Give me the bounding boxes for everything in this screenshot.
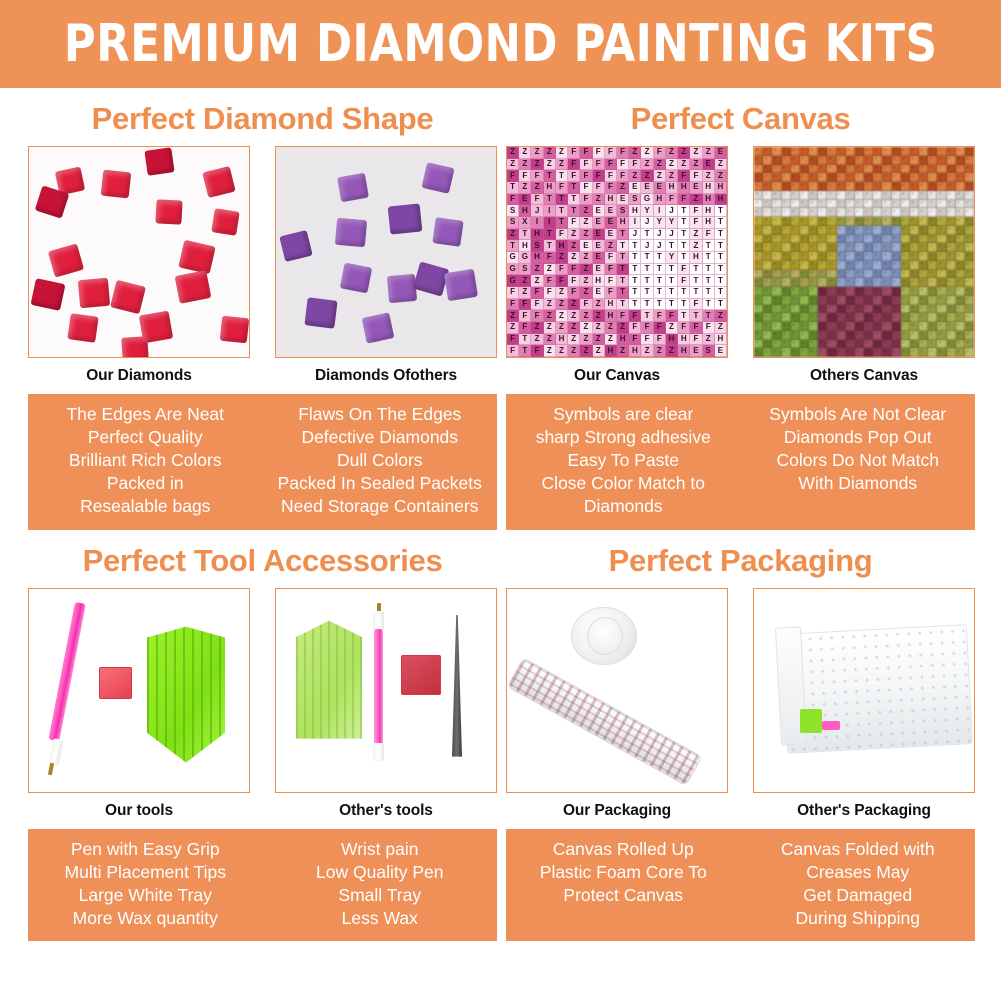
canvas-symbol-cell [855, 305, 864, 314]
canvas-symbol-cell: F [654, 147, 666, 159]
canvas-symbol-cell: Z [605, 240, 617, 252]
canvas-symbol-cell [846, 165, 855, 174]
canvas-symbol-cell [947, 191, 956, 200]
canvas-symbol-cell [864, 243, 873, 252]
canvas-symbol-cell: F [703, 229, 715, 241]
canvas-symbol-cell: T [617, 229, 629, 241]
canvas-symbol-cell [827, 296, 836, 305]
canvas-symbol-cell [837, 296, 846, 305]
canvas-symbol-cell: Z [531, 334, 543, 346]
canvas-symbol-cell: Z [641, 345, 653, 357]
canvas-symbol-cell [882, 156, 891, 165]
canvas-symbol-cell: G [519, 252, 531, 264]
canvas-symbol-cell [782, 313, 791, 322]
canvas-symbol-cell: Z [544, 147, 556, 159]
wax-square-small [401, 655, 441, 695]
canvas-symbol-cell [937, 147, 946, 156]
canvas-symbol-cell [855, 243, 864, 252]
canvas-symbol-cell: Y [654, 217, 666, 229]
canvas-symbol-cell: F [593, 170, 605, 182]
canvas-symbol-cell: T [568, 182, 580, 194]
canvas-symbol-cell: Z [580, 345, 592, 357]
canvas-symbol-cell [901, 296, 910, 305]
canvas-symbol-cell: Z [641, 147, 653, 159]
text-line: Large White Tray [32, 884, 259, 907]
canvas-symbol-cell [763, 200, 772, 209]
canvas-symbol-cell [754, 305, 763, 314]
canvas-symbol-cell [855, 182, 864, 191]
textcol-our-packaging: Canvas Rolled Up Plastic Foam Core To Pr… [506, 838, 741, 930]
canvas-symbol-cell [809, 270, 818, 279]
canvas-symbol-cell [937, 217, 946, 226]
canvas-symbol-cell [864, 217, 873, 226]
canvas-symbol-cell [873, 278, 882, 287]
canvas-symbol-cell [919, 182, 928, 191]
canvas-symbol-cell [772, 191, 781, 200]
canvas-symbol-cell: F [568, 287, 580, 299]
canvas-symbol-cell: S [629, 194, 641, 206]
canvas-symbol-cell: F [544, 287, 556, 299]
canvas-symbol-cell [763, 147, 772, 156]
canvas-symbol-cell: Z [556, 299, 568, 311]
canvas-symbol-cell: T [519, 345, 531, 357]
canvas-symbol-cell [947, 165, 956, 174]
caption-our-packaging: Our Packaging [506, 802, 728, 820]
cell-our-diamonds: Our Diamonds [28, 146, 250, 385]
text-line: Low Quality Pen [267, 861, 494, 884]
text-line: Need Storage Containers [267, 495, 494, 518]
canvas-symbol-cell: Z [629, 147, 641, 159]
canvas-symbol-cell [754, 217, 763, 226]
canvas-symbol-cell: Z [654, 170, 666, 182]
canvas-symbol-cell [818, 348, 827, 357]
canvas-symbol-cell [956, 226, 965, 235]
canvas-symbol-cell [956, 305, 965, 314]
tray-grooves [147, 627, 225, 763]
canvas-symbol-cell [763, 287, 772, 296]
canvas-symbol-cell: H [531, 229, 543, 241]
canvas-symbol-cell [947, 182, 956, 191]
canvas-symbol-cell [809, 173, 818, 182]
canvas-symbol-cell: T [690, 287, 702, 299]
page-title: PREMIUM DIAMOND PAINTING KITS [64, 18, 938, 70]
canvas-symbol-cell [864, 191, 873, 200]
canvas-symbol-cell: F [531, 345, 543, 357]
canvas-symbol-cell: T [715, 252, 727, 264]
canvas-symbol-cell: E [593, 287, 605, 299]
canvas-symbol-cell [937, 278, 946, 287]
canvas-symbol-cell [882, 305, 891, 314]
canvas-symbol-cell: H [605, 299, 617, 311]
canvas-symbol-cell [892, 252, 901, 261]
canvas-symbol-cell [928, 173, 937, 182]
canvas-symbol-cell: I [629, 217, 641, 229]
canvas-symbol-cell [837, 243, 846, 252]
canvas-symbol-cell: T [715, 229, 727, 241]
canvas-symbol-cell [892, 235, 901, 244]
canvas-symbol-cell: Z [690, 147, 702, 159]
canvas-symbol-cell: F [605, 159, 617, 171]
canvas-symbol-cell [956, 191, 965, 200]
canvas-symbol-cell [864, 156, 873, 165]
canvas-symbol-cell: Z [544, 345, 556, 357]
canvas-symbol-cell [800, 287, 809, 296]
canvas-symbol-cell: S [703, 345, 715, 357]
canvas-symbol-cell: F [580, 147, 592, 159]
canvas-symbol-cell [910, 156, 919, 165]
canvas-symbol-cell [791, 208, 800, 217]
cell-other-tools: Other's tools [275, 588, 497, 820]
canvas-symbol-cell: Z [507, 229, 519, 241]
canvas-symbol-cell [956, 200, 965, 209]
text-line: Pen with Easy Grip [32, 838, 259, 861]
canvas-symbol-cell [818, 165, 827, 174]
canvas-symbol-cell [937, 322, 946, 331]
canvas-symbol-cell [901, 226, 910, 235]
canvas-symbol-cell [928, 340, 937, 349]
canvas-symbol-cell [928, 208, 937, 217]
canvas-symbol-cell [827, 313, 836, 322]
cell-others-diamonds: Diamonds Ofothers [275, 146, 497, 385]
canvas-symbol-cell: Z [531, 264, 543, 276]
canvas-symbol-cell [827, 261, 836, 270]
canvas-symbol-cell: H [703, 205, 715, 217]
canvas-symbol-cell: Z [568, 229, 580, 241]
canvas-symbol-cell: Z [531, 322, 543, 334]
canvas-symbol-cell: T [666, 264, 678, 276]
canvas-symbol-cell: F [605, 287, 617, 299]
canvas-symbol-cell [910, 200, 919, 209]
canvas-symbol-cell: F [580, 299, 592, 311]
canvas-symbol-cell [809, 165, 818, 174]
canvas-symbol-cell [837, 340, 846, 349]
canvas-symbol-cell: Y [666, 217, 678, 229]
canvas-symbol-cell [937, 252, 946, 261]
canvas-symbol-cell: Z [654, 159, 666, 171]
canvas-symbol-cell: Z [654, 345, 666, 357]
canvas-symbol-cell: Z [531, 275, 543, 287]
canvas-symbol-cell [791, 313, 800, 322]
canvas-symbol-cell [837, 348, 846, 357]
canvas-symbol-cell: F [678, 264, 690, 276]
canvas-symbol-cell [965, 278, 974, 287]
canvas-symbol-cell [947, 322, 956, 331]
canvas-symbol-cell [910, 278, 919, 287]
canvas-symbol-cell: T [703, 275, 715, 287]
canvas-symbol-cell: H [605, 194, 617, 206]
canvas-symbol-cell [837, 235, 846, 244]
header-banner: PREMIUM DIAMOND PAINTING KITS [0, 0, 1001, 88]
canvas-symbol-cell [937, 156, 946, 165]
canvas-symbol-cell [910, 296, 919, 305]
canvas-symbol-cell: Z [666, 345, 678, 357]
canvas-symbol-cell [782, 348, 791, 357]
canvas-symbol-cell [818, 173, 827, 182]
canvas-symbol-cell: F [568, 159, 580, 171]
canvas-symbol-cell: F [568, 275, 580, 287]
canvas-symbol-cell: G [507, 252, 519, 264]
canvas-symbol-cell [846, 348, 855, 357]
canvas-symbol-cell: E [593, 217, 605, 229]
canvas-symbol-cell [772, 235, 781, 244]
canvas-symbol-cell [855, 261, 864, 270]
canvas-symbol-cell [791, 173, 800, 182]
text-line: Colors Do Not Match [745, 449, 972, 472]
canvas-symbol-cell [846, 261, 855, 270]
canvas-symbol-cell [818, 340, 827, 349]
canvas-symbol-cell [818, 226, 827, 235]
canvas-symbol-cell [956, 252, 965, 261]
canvas-symbol-cell [882, 200, 891, 209]
canvas-symbol-cell: F [507, 170, 519, 182]
canvas-symbol-cell: F [678, 275, 690, 287]
canvas-symbol-cell [864, 208, 873, 217]
canvas-symbol-cell: T [617, 275, 629, 287]
canvas-symbol-cell [846, 208, 855, 217]
canvas-symbol-cell: E [641, 182, 653, 194]
section-packaging: Perfect Packaging Our Packaging [494, 530, 987, 941]
canvas-symbol-cell: Z [531, 147, 543, 159]
canvas-symbol-cell: Z [580, 334, 592, 346]
canvas-symbol-cell: Z [715, 310, 727, 322]
canvas-symbol-cell: F [666, 310, 678, 322]
canvas-symbol-cell [809, 322, 818, 331]
canvas-symbol-cell [965, 156, 974, 165]
text-line: During Shipping [745, 907, 972, 930]
canvas-symbol-cell [882, 217, 891, 226]
canvas-symbol-cell: F [519, 170, 531, 182]
text-line: Packed in [32, 472, 259, 495]
text-line: sharp Strong adhesive [510, 426, 737, 449]
canvas-symbol-cell: Z [568, 334, 580, 346]
text-line: Diamonds Pop Out [745, 426, 972, 449]
canvas-symbol-cell: Z [544, 159, 556, 171]
textbox-diamond-shape: The Edges Are Neat Perfect Quality Brill… [28, 394, 497, 529]
caption-other-packaging: Other's Packaging [753, 802, 975, 820]
textcol-other-packaging: Canvas Folded with Creases May Get Damag… [741, 838, 976, 930]
canvas-symbol-cell: E [715, 345, 727, 357]
canvas-symbol-cell: F [519, 322, 531, 334]
canvas-symbol-cell: H [703, 217, 715, 229]
canvas-symbol-cell [956, 147, 965, 156]
canvas-symbol-cell: T [715, 264, 727, 276]
canvas-symbol-cell [928, 226, 937, 235]
canvas-symbol-cell [763, 182, 772, 191]
canvas-symbol-cell: F [678, 322, 690, 334]
canvas-symbol-cell [965, 165, 974, 174]
canvas-symbol-cell: Z [507, 159, 519, 171]
canvas-symbol-cell [901, 252, 910, 261]
canvas-symbol-cell: T [666, 240, 678, 252]
canvas-symbol-cell [772, 278, 781, 287]
canvas-symbol-cell [919, 243, 928, 252]
canvas-symbol-cell [928, 296, 937, 305]
canvas-symbol-cell [772, 331, 781, 340]
canvas-symbol-cell [873, 208, 882, 217]
canvas-symbol-cell [763, 156, 772, 165]
canvas-symbol-cell [864, 296, 873, 305]
canvas-symbol-cell: H [519, 205, 531, 217]
canvas-symbol-cell [846, 243, 855, 252]
canvas-symbol-cell [919, 200, 928, 209]
canvas-symbol-cell [937, 165, 946, 174]
canvas-symbol-cell [837, 305, 846, 314]
canvas-symbol-cell [919, 287, 928, 296]
canvas-symbol-cell: F [593, 159, 605, 171]
canvas-symbol-cell [837, 217, 846, 226]
canvas-symbol-cell [873, 191, 882, 200]
canvas-symbol-cell: F [531, 170, 543, 182]
canvas-symbol-cell [919, 173, 928, 182]
canvas-symbol-cell [800, 296, 809, 305]
canvas-symbol-cell [947, 147, 956, 156]
canvas-symbol-cell [809, 243, 818, 252]
canvas-symbol-cell [809, 200, 818, 209]
canvas-symbol-cell: T [519, 334, 531, 346]
canvas-symbol-cell: H [678, 334, 690, 346]
canvas-symbol-cell [754, 270, 763, 279]
canvas-symbol-cell [809, 191, 818, 200]
tool-scene-ours [29, 589, 249, 792]
text-line: Brilliant Rich Colors [32, 449, 259, 472]
canvas-symbol-cell [864, 348, 873, 357]
canvas-symbol-cell [882, 191, 891, 200]
canvas-symbol-cell [791, 287, 800, 296]
canvas-symbol-cell [937, 305, 946, 314]
canvas-symbol-cell [846, 235, 855, 244]
canvas-symbol-cell: T [703, 310, 715, 322]
canvas-symbol-cell [846, 322, 855, 331]
canvas-symbol-cell [910, 182, 919, 191]
canvas-symbol-cell: F [605, 252, 617, 264]
canvas-symbol-cell [855, 226, 864, 235]
canvas-symbol-cell [800, 147, 809, 156]
canvas-symbol-cell [791, 348, 800, 357]
canvas-symbol-cell [809, 340, 818, 349]
canvas-symbol-cell [800, 208, 809, 217]
canvas-symbol-cell [763, 217, 772, 226]
canvas-symbol-cell [919, 313, 928, 322]
canvas-symbol-cell [956, 331, 965, 340]
canvas-symbol-cell [754, 296, 763, 305]
canvas-symbol-cell: Z [593, 334, 605, 346]
canvas-symbol-cell [818, 191, 827, 200]
canvas-symbol-cell: Z [580, 264, 592, 276]
canvas-symbol-cell [827, 331, 836, 340]
cell-others-canvas: Others Canvas [753, 146, 975, 385]
canvas-symbol-cell: T [544, 194, 556, 206]
canvas-symbol-cell: Z [568, 299, 580, 311]
canvas-symbol-cell [763, 340, 772, 349]
canvas-symbol-cell [892, 331, 901, 340]
canvas-symbol-cell: F [580, 170, 592, 182]
canvas-symbol-cell: T [678, 240, 690, 252]
canvas-symbol-cell: Z [568, 240, 580, 252]
canvas-symbol-cell [864, 261, 873, 270]
canvas-symbol-cell: T [568, 205, 580, 217]
canvas-symbol-cell [772, 182, 781, 191]
text-line: Dull Colors [267, 449, 494, 472]
canvas-symbol-cell [947, 331, 956, 340]
canvas-symbol-cell: F [629, 159, 641, 171]
canvas-symbol-cell [937, 270, 946, 279]
canvas-symbol-cell [965, 322, 974, 331]
canvas-symbol-cell: Z [690, 159, 702, 171]
canvas-symbol-cell [772, 156, 781, 165]
canvas-symbol-cell: T [715, 217, 727, 229]
canvas-symbol-cell: E [629, 182, 641, 194]
canvas-symbol-cell: Z [593, 310, 605, 322]
canvas-symbol-cell [754, 313, 763, 322]
canvas-symbol-cell [928, 331, 937, 340]
canvas-symbol-cell: H [654, 194, 666, 206]
canvas-symbol-cell: T [544, 229, 556, 241]
canvas-symbol-cell [791, 261, 800, 270]
canvas-symbol-cell: Z [531, 182, 543, 194]
canvas-symbol-cell [837, 173, 846, 182]
canvas-symbol-cell [919, 217, 928, 226]
canvas-symbol-cell: H [593, 275, 605, 287]
canvas-symbol-cell [855, 331, 864, 340]
canvas-symbol-cell: F [519, 299, 531, 311]
canvas-symbol-cell: T [617, 264, 629, 276]
canvas-symbol-cell [800, 261, 809, 270]
caption-others-canvas: Others Canvas [753, 367, 975, 385]
section-title-tools: Perfect Tool Accessories [28, 544, 497, 578]
canvas-symbol-cell [846, 252, 855, 261]
canvas-symbol-cell: Z [519, 287, 531, 299]
canvas-symbol-cell [791, 217, 800, 226]
canvas-symbol-cell: T [519, 229, 531, 241]
canvas-symbol-cell [910, 287, 919, 296]
tube-end-cap-inner [587, 617, 623, 655]
canvas-symbol-cell [873, 252, 882, 261]
canvas-symbol-cell: T [556, 205, 568, 217]
canvas-symbol-cell: E [605, 217, 617, 229]
canvas-symbol-cell: F [629, 334, 641, 346]
canvas-symbol-cell [873, 200, 882, 209]
canvas-symbol-cell [892, 191, 901, 200]
canvas-symbol-cell [947, 235, 956, 244]
canvas-symbol-cell [864, 313, 873, 322]
canvas-symbol-cell [882, 270, 891, 279]
canvas-symbol-cell: F [605, 182, 617, 194]
canvas-symbol-cell [864, 322, 873, 331]
canvas-symbol-cell [864, 173, 873, 182]
canvas-symbol-cell [947, 261, 956, 270]
canvas-symbol-cell [901, 261, 910, 270]
canvas-symbol-cell [947, 313, 956, 322]
canvas-symbol-cell [892, 287, 901, 296]
canvas-symbol-cell: F [690, 217, 702, 229]
canvas-symbol-cell [818, 217, 827, 226]
canvas-symbol-cell: Z [690, 229, 702, 241]
canvas-symbol-cell [846, 340, 855, 349]
canvas-symbol-cell [910, 340, 919, 349]
canvas-symbol-cell [809, 208, 818, 217]
canvas-symbol-cell [855, 278, 864, 287]
canvas-symbol-cell [782, 243, 791, 252]
text-line: Diamonds [510, 495, 737, 518]
canvas-symbol-cell [855, 165, 864, 174]
canvas-symbol-cell [846, 331, 855, 340]
caption-our-canvas: Our Canvas [506, 367, 728, 385]
canvas-symbol-cell [846, 217, 855, 226]
canvas-symbol-cell: F [507, 334, 519, 346]
section-canvas: Perfect Canvas ZZZZZFFFFFZZFZZZZEZZZZZFF… [494, 88, 987, 530]
canvas-symbol-cell [827, 340, 836, 349]
canvas-symbol-cell: T [678, 252, 690, 264]
